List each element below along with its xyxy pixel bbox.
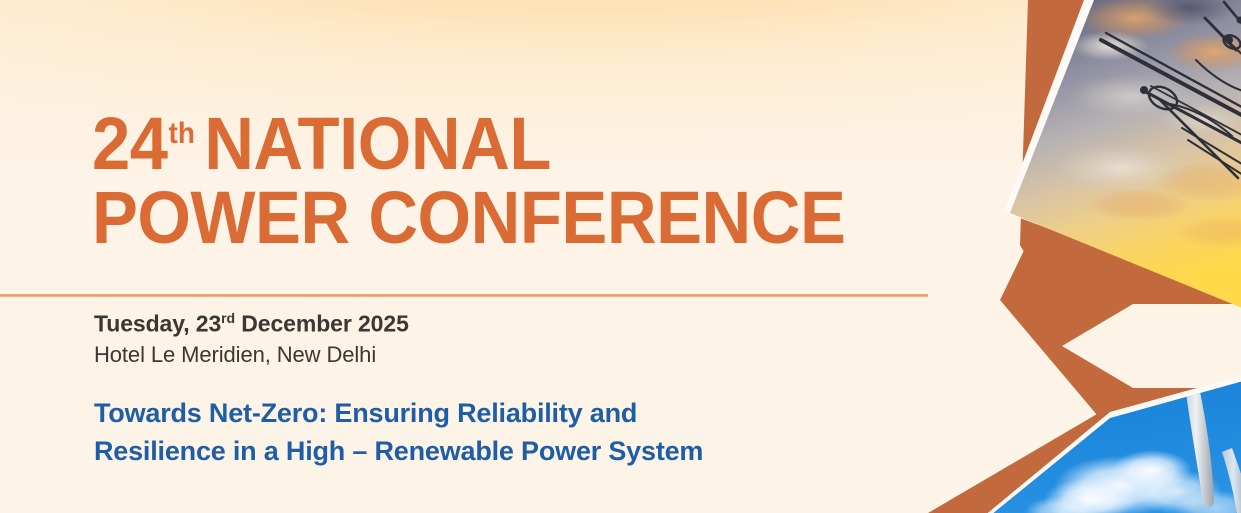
event-date-suffix: December 2025	[235, 311, 409, 337]
event-date: Tuesday, 23rd December 2025	[94, 310, 409, 338]
conference-title: 24thNATIONAL POWER CONFERENCE	[92, 110, 952, 252]
title-national: NATIONAL	[204, 102, 551, 185]
orange-chevron-arrow	[928, 0, 1241, 513]
event-venue: Hotel Le Meridien, New Delhi	[94, 342, 409, 368]
event-date-ordinal: rd	[221, 310, 235, 326]
event-date-prefix: Tuesday, 23	[94, 311, 221, 337]
wind-turbine-blue-sky-photo	[970, 370, 1241, 513]
section-divider	[0, 294, 928, 297]
event-details: Tuesday, 23rd December 2025 Hotel Le Mer…	[94, 310, 409, 368]
chevron-notch-cut	[1062, 304, 1241, 388]
theme-line-one: Towards Net-Zero: Ensuring Reliability a…	[94, 394, 914, 432]
edition-number: 24	[92, 102, 168, 185]
title-line-two: POWER CONFERENCE	[92, 184, 892, 252]
conference-theme: Towards Net-Zero: Ensuring Reliability a…	[94, 394, 914, 471]
conference-banner: 24thNATIONAL POWER CONFERENCE Tuesday, 2…	[0, 0, 1241, 513]
transmission-line-sunset-photo	[1000, 0, 1241, 320]
edition-ordinal: th	[169, 117, 195, 150]
title-line-one: 24thNATIONAL	[92, 110, 892, 178]
theme-line-two: Resilience in a High – Renewable Power S…	[94, 432, 914, 470]
chevron-upper-limb	[1028, 0, 1117, 300]
banner-content: 24thNATIONAL POWER CONFERENCE Tuesday, 2…	[0, 0, 960, 513]
